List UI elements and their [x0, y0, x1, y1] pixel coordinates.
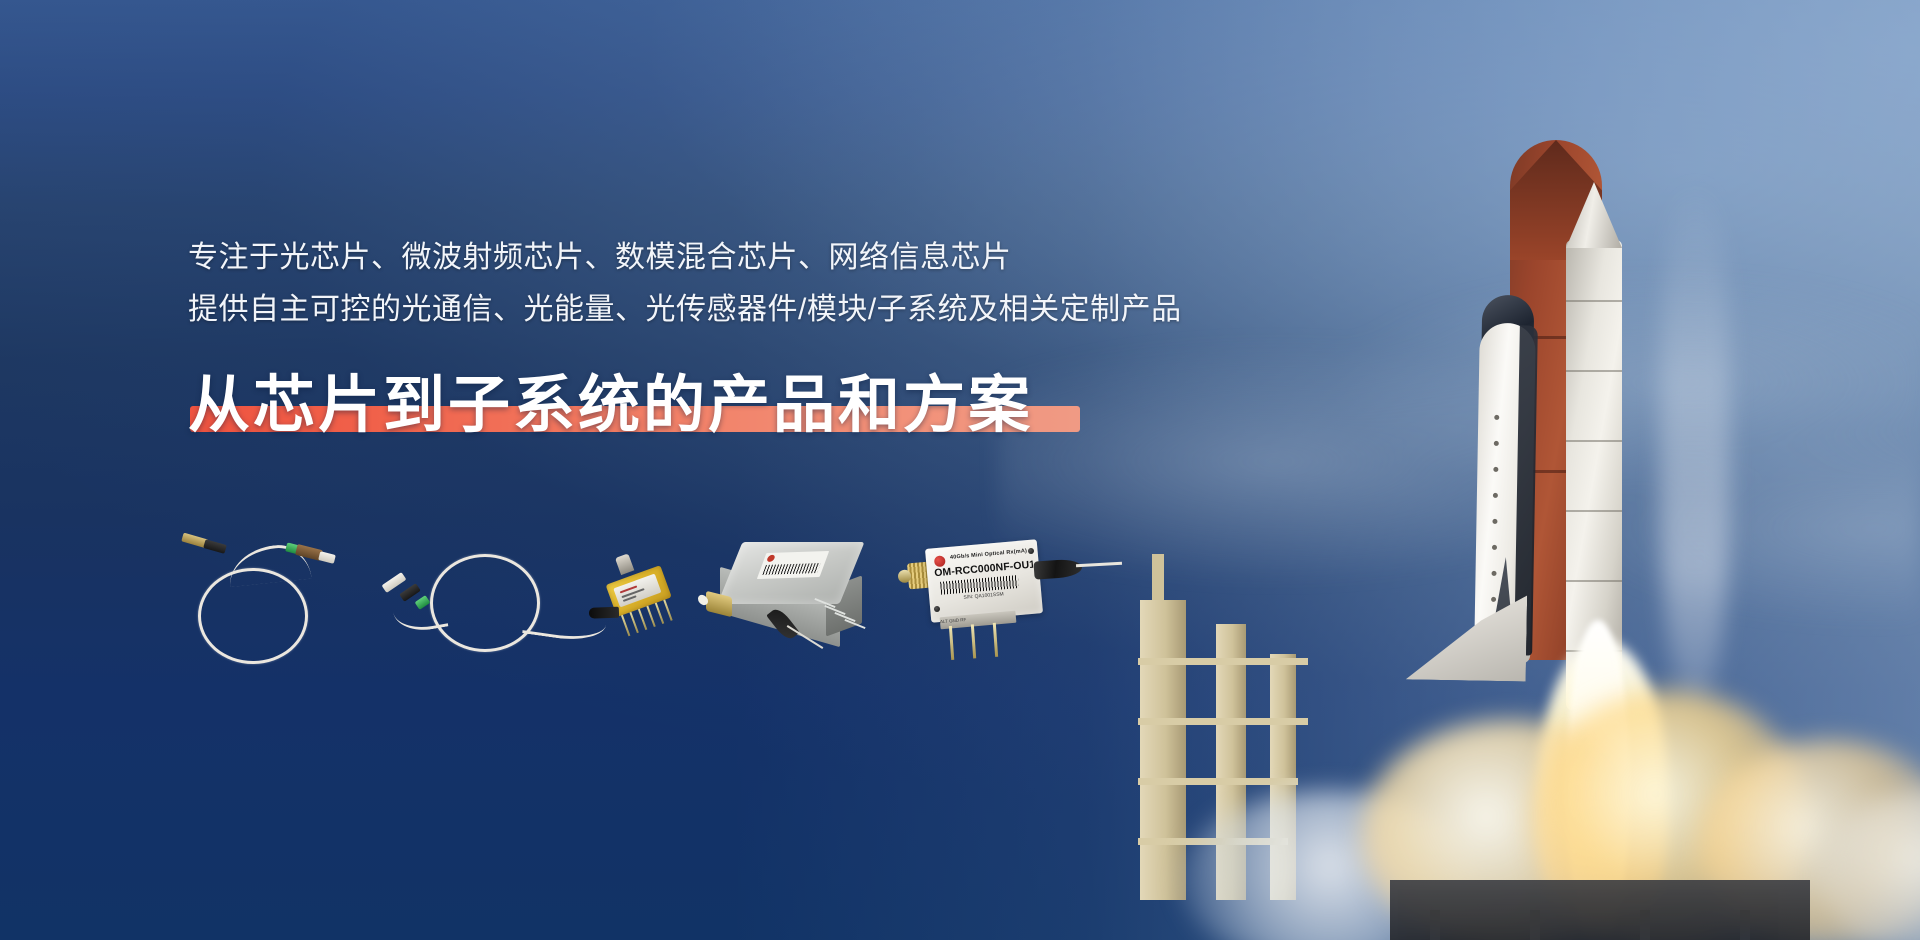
module-serial-number: S/N: QA1001SSM [963, 591, 1004, 600]
subheading-line-1: 专注于光芯片、微波射频芯片、数模混合芯片、网络信息芯片 [188, 232, 1388, 284]
barcode [940, 575, 1019, 595]
module-label: 40Gb/s Mini Optical Rx(mA) OM-RCC000NF-O… [932, 546, 1037, 612]
sc-connector-cap [318, 551, 336, 564]
barcode [762, 563, 820, 575]
hero-copy-block: 专注于光芯片、微波射频芯片、数模混合芯片、网络信息芯片 提供自主可控的光通信、光… [188, 232, 1388, 440]
housing-screw [934, 606, 940, 612]
fc-connector-body [203, 539, 227, 554]
hero-banner: 专注于光芯片、微波射频芯片、数模混合芯片、网络信息芯片 提供自主可控的光通信、光… [0, 0, 1920, 940]
product-optical-receiver-module: 40Gb/s Mini Optical Rx(mA) OM-RCC000NF-O… [904, 530, 1104, 662]
product-fiber-patch-cord [186, 528, 346, 658]
product-rf-metal-module [706, 536, 876, 656]
module-barcode-label [757, 551, 829, 579]
launch-pad-deck [1390, 880, 1810, 940]
orbiter-wing [1406, 593, 1527, 681]
fiber-loop [430, 554, 540, 652]
space-shuttle-orbiter [1452, 294, 1551, 686]
page-title: 从芯片到子系统的产品和方案 [188, 354, 1033, 444]
housing-screw [1028, 548, 1034, 554]
product-butterfly-laser-module [376, 524, 676, 664]
product-showcase-row: 40Gb/s Mini Optical Rx(mA) OM-RCC000NF-O… [186, 524, 1106, 668]
exhaust-vapor-trail [1660, 180, 1730, 700]
headline-wrapper: 从芯片到子系统的产品和方案 [188, 354, 1388, 440]
fiber-boot [1033, 558, 1082, 579]
subheading-line-2: 提供自主可控的光通信、光能量、光传感器件/模块/子系统及相关定制产品 [188, 284, 1388, 336]
connector-cap [382, 572, 407, 593]
module-pin-row [943, 622, 1015, 661]
shuttle-launch-illustration [1060, 0, 1920, 940]
base-marking: ALT GND RF [940, 617, 967, 624]
module-pin-row [814, 602, 870, 632]
brand-dot-icon [766, 555, 776, 562]
fiber-boot [589, 607, 619, 619]
module-part-number: OM-RCC000NF-OU11 [934, 558, 1037, 579]
package-collar [615, 553, 634, 575]
butterfly-package [597, 554, 682, 631]
